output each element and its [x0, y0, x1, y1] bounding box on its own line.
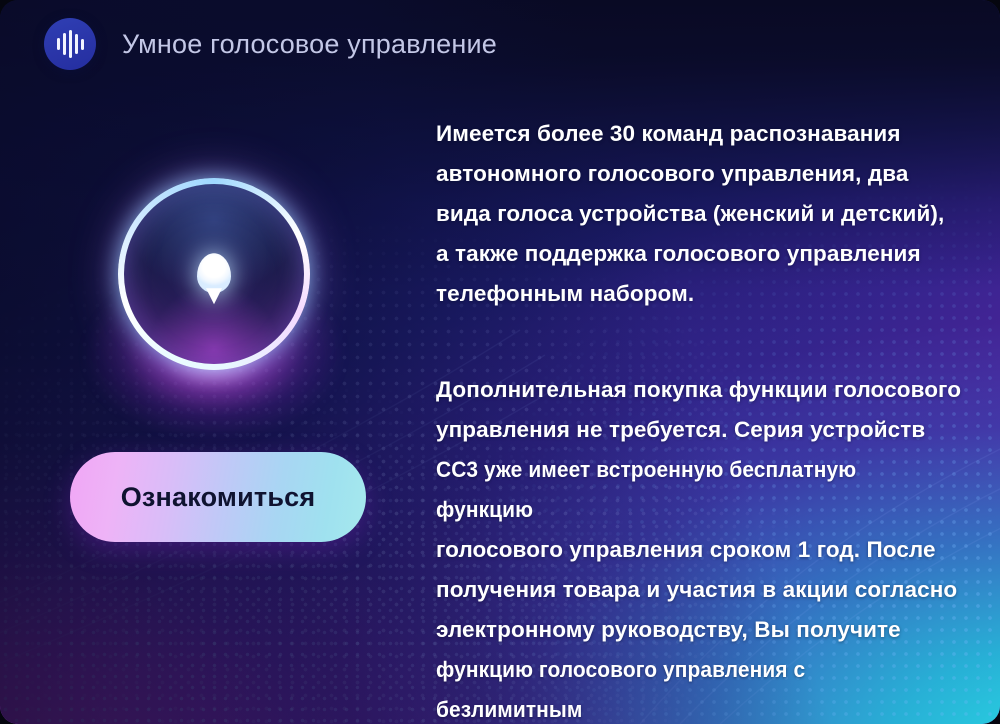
page-title: Умное голосовое управление [122, 29, 497, 60]
paragraph-1-line-5: телефонным набором. [436, 281, 694, 306]
voice-assistant-orb [118, 178, 310, 370]
paragraph-2-line-3: CC3 уже имеет встроенную бесплатную функ… [436, 450, 927, 530]
paragraph-2-line-4: голосового управления сроком 1 год. Посл… [436, 537, 936, 562]
paragraph-2-line-5: получения товара и участия в акции согла… [436, 577, 957, 602]
paragraph-2-line-6: электронному руководству, Вы получите [436, 617, 901, 642]
teardrop-pin-icon [197, 253, 231, 293]
paragraph-1: Имеется более 30 команд распознавания ав… [436, 114, 964, 314]
paragraph-2-line-2: управления не требуется. Серия устройств [436, 417, 925, 442]
card-header: Умное голосовое управление [44, 18, 497, 70]
voice-waveform-icon [44, 18, 96, 70]
paragraph-2-line-1: Дополнительная покупка функции голосовог… [436, 377, 961, 402]
orb-body [124, 184, 304, 364]
paragraph-2: Дополнительная покупка функции голосовог… [436, 370, 964, 724]
promo-card: Умное голосовое управление Ознакомиться … [0, 0, 1000, 724]
paragraph-1-line-1: Имеется более 30 команд распознавания [436, 121, 901, 146]
paragraph-2-line-7: функцию голосового управления с безлимит… [436, 650, 927, 724]
description-block: Имеется более 30 команд распознавания ав… [436, 114, 964, 724]
paragraph-1-line-4: а также поддержка голосового управления [436, 241, 921, 266]
paragraph-1-line-3: вида голоса устройства (женский и детски… [436, 201, 944, 226]
learn-more-button[interactable]: Ознакомиться [70, 452, 366, 542]
paragraph-1-line-2: автономного голосового управления, два [436, 161, 909, 186]
